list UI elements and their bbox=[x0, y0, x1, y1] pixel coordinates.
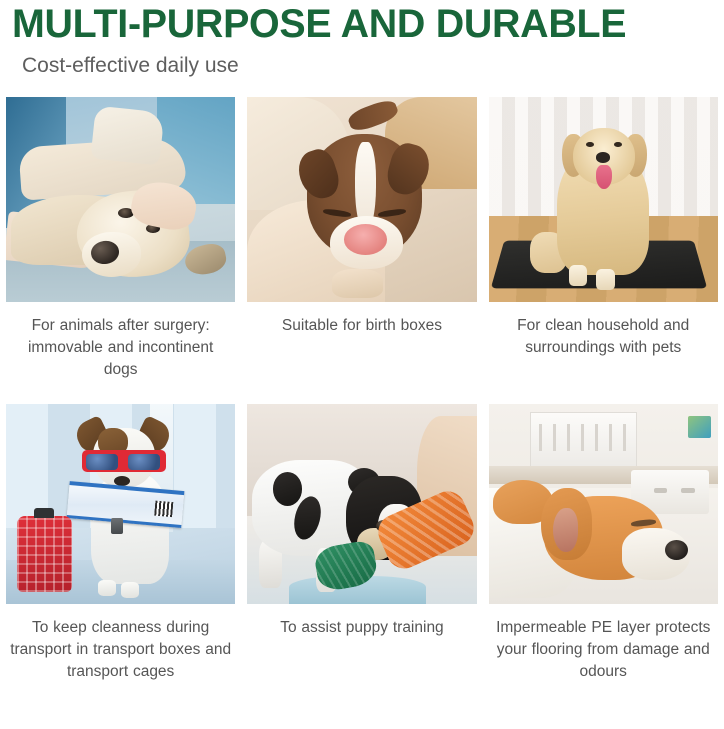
cabinet-knob-shape bbox=[681, 488, 695, 493]
photo-puppy-training bbox=[247, 404, 476, 604]
feature-caption: Impermeable PE layer protects your floor… bbox=[489, 604, 718, 683]
feature-caption: To assist puppy training bbox=[247, 604, 476, 639]
dog-nose-shape bbox=[596, 152, 610, 162]
photo-dog-on-mat bbox=[489, 97, 718, 302]
feature-caption: For clean household and surroundings wit… bbox=[489, 302, 718, 359]
feature-grid: For animals after surgery: immovable and… bbox=[0, 97, 724, 683]
feature-caption: Suitable for birth boxes bbox=[247, 302, 476, 337]
feature-cell-sleeping-corgi: Impermeable PE layer protects your floor… bbox=[483, 404, 724, 683]
feature-row-2: To keep cleanness during transport in tr… bbox=[0, 404, 724, 683]
collar-tag-shape bbox=[111, 518, 122, 534]
photo-newborn-puppy bbox=[247, 97, 476, 302]
sunglasses-lens-shape bbox=[86, 454, 118, 470]
puppy-paw-shape bbox=[332, 269, 382, 298]
glove-shape bbox=[91, 106, 165, 166]
photo-sleeping-corgi bbox=[489, 404, 718, 604]
feature-caption: For animals after surgery: immovable and… bbox=[6, 302, 235, 381]
cabinet-shape bbox=[530, 412, 637, 470]
feature-cell-travel-dog: To keep cleanness during transport in tr… bbox=[0, 404, 241, 683]
feature-cell-dog-on-mat: For clean household and surroundings wit… bbox=[483, 97, 724, 381]
photo-vet-surgery bbox=[6, 97, 235, 302]
suitcase-handle-shape bbox=[34, 508, 55, 518]
feature-caption: To keep cleanness during transport in tr… bbox=[6, 604, 235, 683]
page-title: MULTI-PURPOSE AND DURABLE bbox=[12, 2, 707, 46]
corgi-nose-shape bbox=[665, 540, 688, 560]
corgi-inner-ear-shape bbox=[553, 508, 578, 552]
dog-paw-shape bbox=[596, 269, 614, 290]
dog-paw-shape bbox=[121, 582, 139, 598]
red-suitcase-shape bbox=[17, 516, 72, 592]
feature-cell-puppy-training: To assist puppy training bbox=[241, 404, 482, 683]
dog-paw-shape bbox=[569, 265, 587, 286]
feature-row-1: For animals after surgery: immovable and… bbox=[0, 97, 724, 381]
feature-cell-vet-surgery: For animals after surgery: immovable and… bbox=[0, 97, 241, 381]
photo-travel-dog bbox=[6, 404, 235, 604]
header-block: MULTI-PURPOSE AND DURABLE Cost-effective… bbox=[0, 2, 724, 79]
feature-cell-newborn-puppy: Suitable for birth boxes bbox=[241, 97, 482, 381]
puppy-spot-shape bbox=[273, 472, 303, 506]
wall-artwork-shape bbox=[688, 416, 711, 438]
cabinet-knob-shape bbox=[654, 488, 668, 493]
sunglasses-lens-shape bbox=[128, 454, 160, 470]
dog-paw-shape bbox=[98, 580, 116, 596]
puppy-nose-shape bbox=[344, 224, 388, 255]
page-subtitle: Cost-effective daily use bbox=[22, 53, 718, 79]
